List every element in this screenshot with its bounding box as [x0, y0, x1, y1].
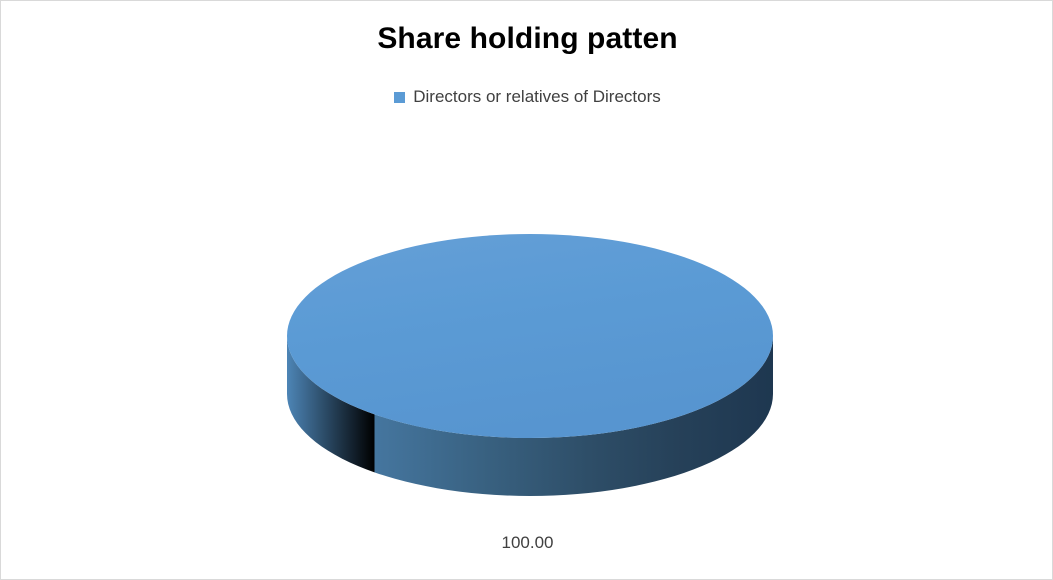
- legend-square-icon: [394, 92, 405, 103]
- legend-item-label: Directors or relatives of Directors: [413, 86, 661, 108]
- pie-data-label: 100.00: [1, 532, 1053, 554]
- chart-title: Share holding patten: [1, 19, 1053, 59]
- legend-item-directors-or-relatives-of-directors[interactable]: Directors or relatives of Directors: [394, 86, 661, 108]
- pie-chart-graphic[interactable]: [287, 234, 773, 524]
- chart-container: Share holding patten Directors or relati…: [0, 0, 1053, 580]
- pie-svg: [287, 234, 773, 524]
- pie-top-face: [287, 234, 773, 438]
- chart-legend: Directors or relatives of Directors: [1, 86, 1053, 108]
